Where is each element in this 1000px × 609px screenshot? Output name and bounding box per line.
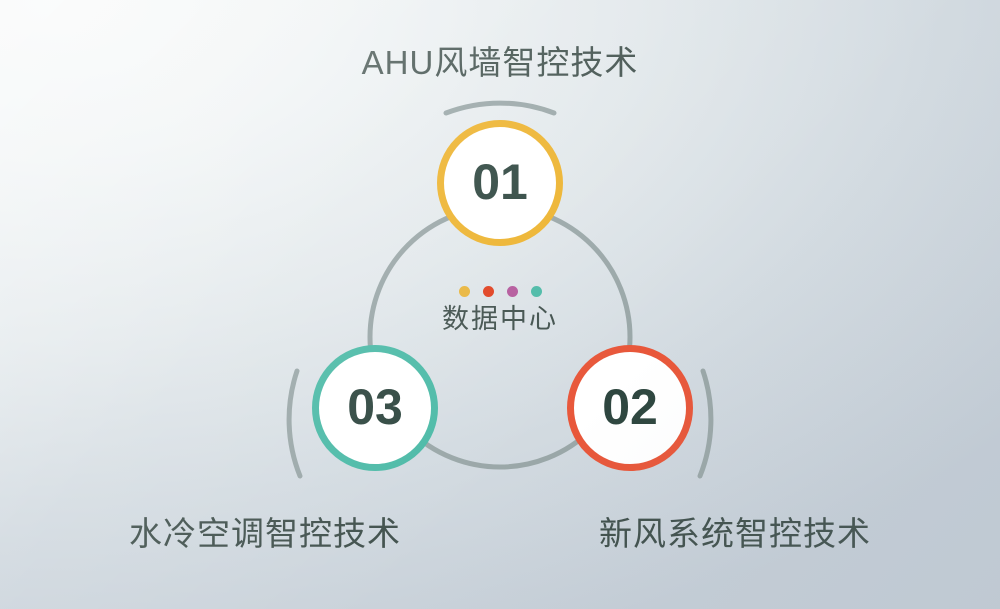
caption-node-02: 新风系统智控技术 bbox=[470, 517, 1000, 550]
node-number-03: 03 bbox=[347, 382, 403, 432]
center-label: 数据中心 bbox=[0, 306, 1000, 333]
outer-arc-node-01 bbox=[446, 103, 554, 113]
caption-node-01: AHU风墙智控技术 bbox=[0, 46, 1000, 79]
dot-teal-icon bbox=[531, 286, 542, 297]
outer-arc-node-02 bbox=[700, 371, 711, 476]
caption-node-03: 水冷空调智控技术 bbox=[0, 517, 530, 550]
dot-orange-icon bbox=[483, 286, 494, 297]
dot-amber-icon bbox=[459, 286, 470, 297]
dot-purple-icon bbox=[507, 286, 518, 297]
node-circle-01[interactable]: 01 bbox=[437, 120, 563, 246]
node-circle-02[interactable]: 02 bbox=[567, 345, 693, 471]
node-number-02: 02 bbox=[602, 382, 658, 432]
node-circle-03[interactable]: 03 bbox=[312, 345, 438, 471]
node-number-01: 01 bbox=[472, 157, 528, 207]
diagram-canvas: 01 02 03 数据中心 AHU风墙智控技术 水冷空调智控技术 新风系统智控技… bbox=[0, 0, 1000, 609]
center-cluster: 数据中心 bbox=[0, 286, 1000, 333]
center-dot-row bbox=[0, 286, 1000, 297]
outer-arc-node-03 bbox=[289, 371, 300, 476]
